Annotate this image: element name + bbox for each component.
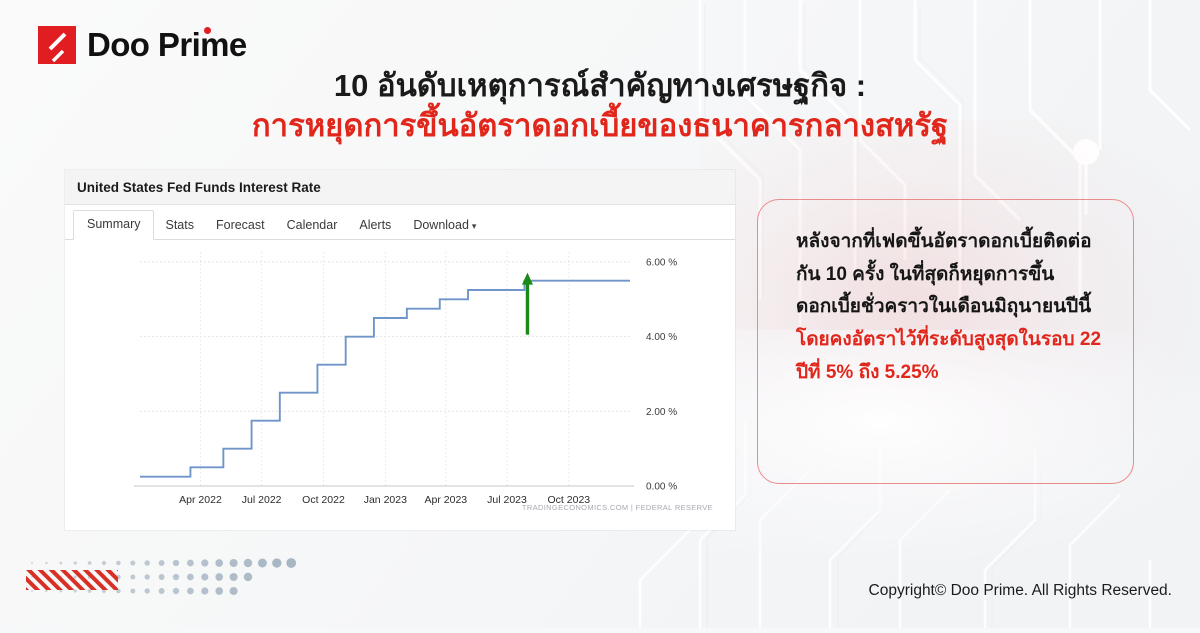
tab-stats[interactable]: Stats [154,212,205,240]
svg-text:Apr 2023: Apr 2023 [425,494,468,506]
chart-source-credit: TRADINGECONOMICS.COM | FEDERAL RESERVE [522,503,713,512]
brand-logo: Doo Prime [38,26,247,64]
svg-text:Jul 2022: Jul 2022 [242,494,282,506]
callout-text-plain: หลังจากที่เฟดขึ้นอัตราดอกเบี้ยติดต่อกัน … [796,231,1092,317]
widget-tab-bar: Summary Stats Forecast Calendar Alerts D… [65,205,735,240]
chart-widget: United States Fed Funds Interest Rate Su… [65,170,735,530]
tab-alerts-label: Alerts [359,218,391,232]
tab-summary[interactable]: Summary [73,210,154,240]
svg-text:2.00 %: 2.00 % [646,407,677,418]
green-up-arrow-annotation [522,273,533,335]
red-stripe-decoration [26,570,118,590]
tab-download[interactable]: Download▾ [402,212,487,240]
chart-plot: 0.00 %2.00 %4.00 %6.00 % Apr 2022Jul 202… [65,240,735,530]
widget-title: United States Fed Funds Interest Rate [77,180,321,195]
callout-text-highlight: โดยคงอัตราไว้ที่ระดับสูงสุดในรอบ 22 ปีที… [796,329,1101,383]
svg-text:6.00 %: 6.00 % [646,258,677,269]
chevron-down-icon: ▾ [472,221,477,231]
chart-canvas: 0.00 %2.00 %4.00 %6.00 % Apr 2022Jul 202… [65,240,735,530]
tab-forecast-label: Forecast [216,218,265,232]
page-title: 10 อันดับเหตุการณ์สำคัญทางเศรษฐกิจ : การ… [170,66,1030,145]
widget-titlebar: United States Fed Funds Interest Rate [65,170,735,205]
logo-dot-icon [204,27,211,34]
doo-prime-mark-icon [38,26,76,64]
tab-download-label: Download [413,218,469,232]
svg-text:Apr 2022: Apr 2022 [179,494,222,506]
tab-alerts[interactable]: Alerts [348,212,402,240]
svg-text:Oct 2022: Oct 2022 [302,494,345,506]
brand-name-text: Doo Prime [87,26,247,63]
tab-forecast[interactable]: Forecast [205,212,276,240]
tab-stats-label: Stats [165,218,194,232]
callout-card: หลังจากที่เฟดขึ้นอัตราดอกเบี้ยติดต่อกัน … [757,199,1134,484]
tab-calendar[interactable]: Calendar [276,212,349,240]
tab-summary-label: Summary [87,217,140,231]
headline-line-2: การหยุดการขึ้นอัตราดอกเบี้ยของธนาคารกลาง… [170,106,1030,146]
copyright-text: Copyright© Doo Prime. All Rights Reserve… [869,582,1172,600]
svg-text:4.00 %: 4.00 % [646,332,677,343]
svg-text:0.00 %: 0.00 % [646,482,677,493]
tab-calendar-label: Calendar [287,218,338,232]
brand-name: Doo Prime [87,26,247,64]
callout-text: หลังจากที่เฟดขึ้นอัตราดอกเบี้ยติดต่อกัน … [796,226,1103,389]
headline-line-1: 10 อันดับเหตุการณ์สำคัญทางเศรษฐกิจ : [170,66,1030,106]
svg-text:Jan 2023: Jan 2023 [364,494,407,506]
